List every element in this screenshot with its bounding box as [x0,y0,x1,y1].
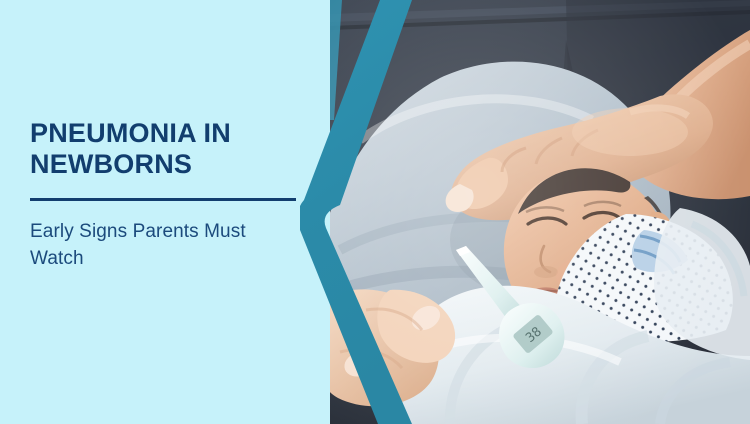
text-panel: PNEUMONIA IN NEWBORNS Early Signs Parent… [0,0,330,424]
promo-banner: 38 PNEUMONIA IN NEWBORNS Early Signs Par… [0,0,750,424]
page-subtitle: Early Signs Parents Must Watch [30,218,302,272]
text-block: PNEUMONIA IN NEWBORNS Early Signs Parent… [30,118,302,272]
newborn-photo: 38 [330,0,750,424]
page-title: PNEUMONIA IN NEWBORNS [30,118,302,180]
title-divider [30,198,296,201]
